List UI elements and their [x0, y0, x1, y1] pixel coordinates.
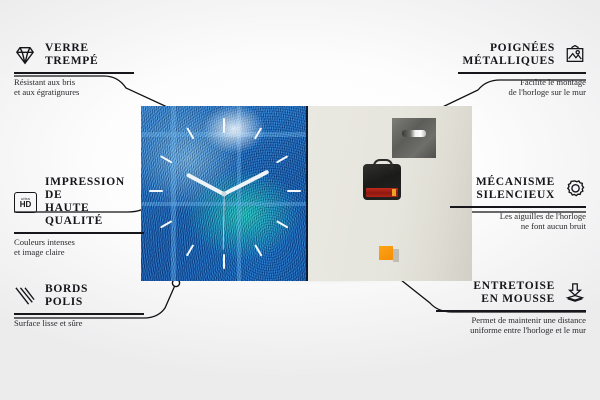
callout-header: ultra HD IMPRESSION DE HAUTE QUALITÉ [14, 176, 144, 228]
divider [14, 313, 144, 315]
clock-center-cap [221, 191, 226, 196]
callout-poignees-metalliques: POIGNÉES MÉTALLIQUES Facilite le montage… [458, 42, 586, 98]
callout-impression-haute-qualite: ultra HD IMPRESSION DE HAUTE QUALITÉ Cou… [14, 176, 144, 258]
picture-hanger-icon [564, 45, 586, 65]
light-flare [189, 106, 279, 164]
callout-description: Couleurs intenses et image claire [14, 237, 144, 258]
ultra-hd-icon-bottom: HD [20, 201, 32, 209]
divider [458, 72, 586, 74]
divider [14, 72, 134, 74]
hanger-slot [402, 130, 426, 137]
callout-description: Permet de maintenir une distance uniform… [436, 315, 586, 336]
product-photo [141, 106, 472, 281]
callout-header: ENTRETOISE EN MOUSSE [436, 280, 586, 306]
callout-header: BORDS POLIS [14, 283, 144, 309]
callout-description: Facilite le montage de l'horloge sur le … [458, 77, 586, 98]
foam-spacer [379, 246, 393, 260]
battery [366, 188, 398, 197]
divider [436, 310, 586, 312]
callout-title: POIGNÉES MÉTALLIQUES [463, 42, 555, 68]
callout-description: Les aiguilles de l'horloge ne font aucun… [450, 211, 586, 232]
callout-mecanisme-silencieux: MÉCANISME SILENCIEUX Les aiguilles de l'… [450, 176, 586, 232]
callout-header: MÉCANISME SILENCIEUX [450, 176, 586, 202]
infographic-canvas: VERRE TREMPÉ Résistant aux bris et aux é… [0, 0, 600, 400]
hanging-loop [373, 159, 393, 169]
metal-hanger-plate [392, 118, 436, 158]
gear-icon [564, 179, 586, 199]
clock-back-panel [308, 106, 472, 281]
callout-header: VERRE TREMPÉ [14, 42, 134, 68]
divider [14, 232, 144, 234]
callout-title: BORDS POLIS [45, 283, 88, 309]
callout-description: Surface lisse et sûre [14, 318, 144, 329]
callout-title: VERRE TREMPÉ [45, 42, 98, 68]
diamond-icon [14, 45, 36, 65]
callout-description: Résistant aux bris et aux égratignures [14, 77, 134, 98]
divider [450, 206, 586, 208]
callout-title: IMPRESSION DE HAUTE QUALITÉ [45, 176, 144, 228]
foam-spacer-shadow [393, 249, 399, 262]
foam-spacer-icon [564, 283, 586, 303]
callout-header: POIGNÉES MÉTALLIQUES [458, 42, 586, 68]
clock-face [141, 106, 308, 281]
callout-entretoise-en-mousse: ENTRETOISE EN MOUSSE Permet de maintenir… [436, 280, 586, 336]
callout-title: MÉCANISME SILENCIEUX [476, 176, 555, 202]
ultra-hd-icon: ultra HD [14, 192, 36, 212]
polished-edges-icon [14, 286, 36, 306]
callout-verre-trempe: VERRE TREMPÉ Résistant aux bris et aux é… [14, 42, 134, 98]
quartz-mechanism [363, 164, 401, 200]
callout-bords-polis: BORDS POLIS Surface lisse et sûre [14, 283, 144, 328]
callout-title: ENTRETOISE EN MOUSSE [473, 280, 555, 306]
battery-terminal [392, 189, 396, 196]
